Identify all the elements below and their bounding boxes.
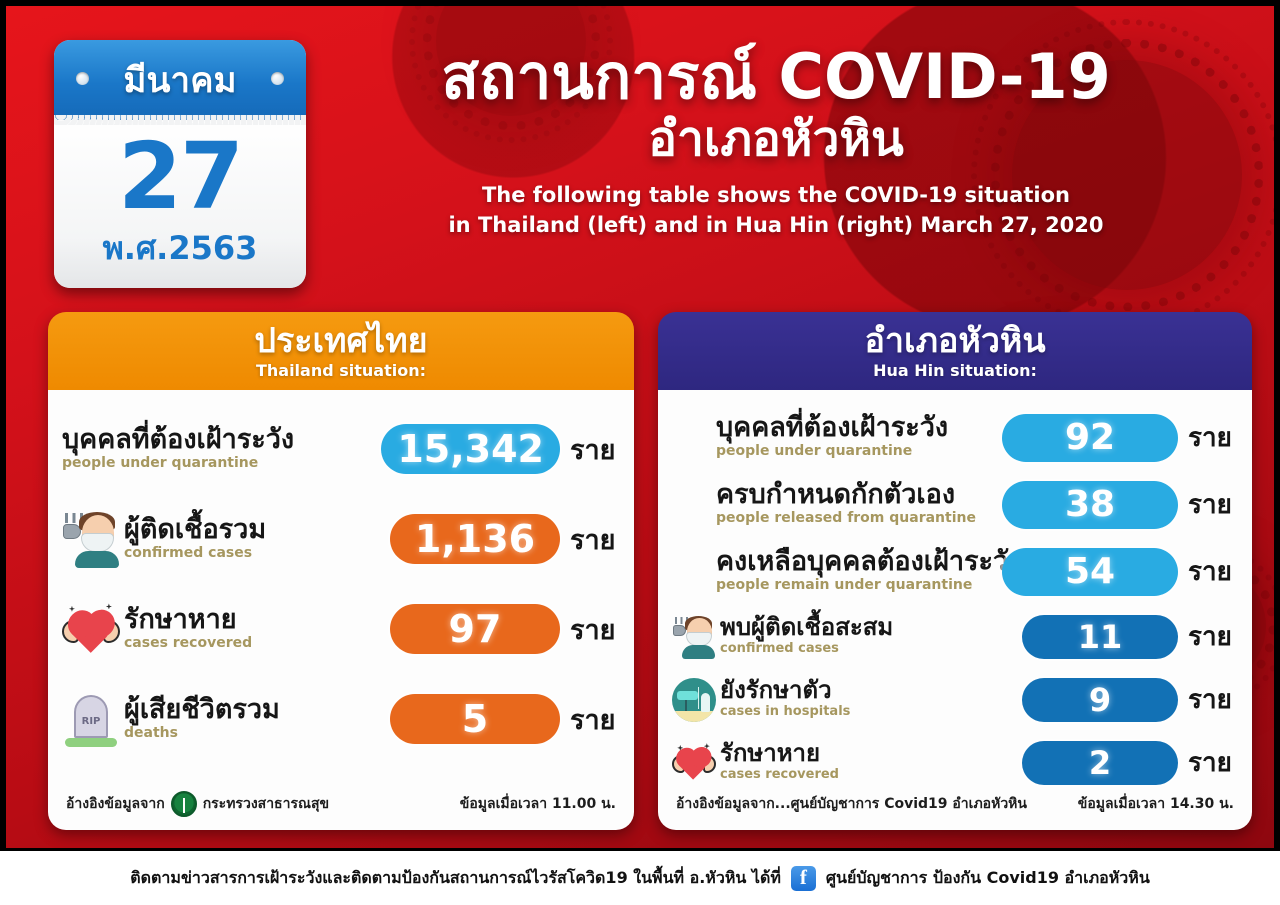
title-block: สถานการณ์ COVID-19 อำเภอหัวหิน The follo… — [326, 44, 1226, 241]
row-value-pill: 97 — [390, 604, 560, 654]
row-icon-placeholder — [672, 416, 716, 460]
huahin-panel-body: บุคคลที่ต้องเฝ้าระวัง people under quara… — [658, 390, 1252, 830]
row-unit: ราย — [570, 698, 620, 741]
footer-source-label: อ้างอิงข้อมูลจาก — [66, 793, 165, 815]
hospital-bed-icon — [672, 678, 716, 722]
row-unit: ราย — [1188, 679, 1238, 720]
facebook-icon[interactable] — [791, 866, 816, 891]
footer-source: อ้างอิงข้อมูลจาก...ศูนย์บัญชาการ Covid19… — [676, 793, 1027, 815]
footer-source: อ้างอิงข้อมูลจาก กระทรวงสาธารณสุข — [66, 791, 329, 817]
huahin-panel-title-en: Hua Hin situation: — [873, 361, 1037, 380]
row-label: พบผู้ติดเชื้อสะสม confirmed cases — [720, 615, 1016, 657]
row-value-pill: 15,342 — [381, 424, 560, 474]
row-label-th: บุคคลที่ต้องเฝ้าระวัง — [716, 414, 996, 442]
table-row: ผู้ติดเชื้อรวม confirmed cases 1,136 ราย — [62, 494, 620, 584]
banner-text: ติดตามข่าวสารการเฝ้าระวังและติดตามป้องกั… — [130, 866, 781, 891]
table-row: RIP ผู้เสียชีวิตรวม deaths 5 ราย — [62, 674, 620, 764]
masked-person-thermometer-icon — [62, 510, 120, 568]
ministry-of-public-health-logo-icon — [171, 791, 197, 817]
calendar-header: มีนาคม — [54, 40, 306, 120]
row-label-en: confirmed cases — [720, 641, 1016, 657]
poster-background: มีนาคม 27 พ.ศ.2563 สถานการณ์ COVID-19 อำ… — [6, 6, 1274, 848]
row-value-pill: 11 — [1022, 615, 1178, 659]
masked-person-thermometer-icon — [672, 615, 716, 659]
table-row: บุคคลที่ต้องเฝ้าระวัง people under quara… — [62, 404, 620, 494]
gravestone-icon: RIP — [62, 690, 120, 748]
row-label-th: ครบกำหนดกักตัวเอง — [716, 481, 996, 509]
row-label-en: people under quarantine — [62, 455, 375, 473]
header: มีนาคม 27 พ.ศ.2563 สถานการณ์ COVID-19 อำ… — [6, 6, 1274, 298]
title-english: The following table shows the COVID-19 s… — [326, 180, 1226, 241]
table-row: ยังรักษาตัว cases in hospitals 9 ราย — [672, 668, 1238, 731]
row-label: บุคคลที่ต้องเฝ้าระวัง people under quara… — [62, 426, 375, 473]
row-unit: ราย — [570, 428, 620, 471]
calendar-year: พ.ศ.2563 — [103, 223, 258, 274]
row-label-th: ผู้เสียชีวิตรวม — [124, 696, 384, 724]
row-label-th: บุคคลที่ต้องเฝ้าระวัง — [62, 426, 375, 454]
table-row: พบผู้ติดเชื้อสะสม confirmed cases 11 ราย — [672, 605, 1238, 668]
title-english-line2: in Thailand (left) and in Hua Hin (right… — [326, 210, 1226, 240]
row-unit: ราย — [570, 518, 620, 561]
table-row: รักษาหาย cases recovered 97 ราย — [62, 584, 620, 674]
row-value-pill: 1,136 — [390, 514, 560, 564]
thailand-panel-title-en: Thailand situation: — [256, 361, 426, 380]
calendar-hole-right-icon — [271, 72, 284, 85]
table-row: ครบกำหนดกักตัวเอง people released from q… — [672, 471, 1238, 538]
row-label: ผู้เสียชีวิตรวม deaths — [124, 696, 384, 743]
calendar-month: มีนาคม — [123, 53, 236, 108]
calendar-body: 27 พ.ศ.2563 — [54, 120, 306, 288]
bottom-banner: ติดตามข่าวสารการเฝ้าระวังและติดตามป้องกั… — [0, 848, 1280, 905]
row-label-en: people remain under quarantine — [716, 577, 996, 595]
row-label-th: พบผู้ติดเชื้อสะสม — [720, 615, 1016, 640]
row-label-th: รักษาหาย — [720, 741, 1016, 766]
thailand-panel-footer: อ้างอิงข้อมูลจาก กระทรวงสาธารณสุข ข้อมูล… — [48, 778, 634, 830]
footer-time: ข้อมูลเมื่อเวลา 11.00 น. — [460, 793, 616, 815]
row-value-pill: 5 — [390, 694, 560, 744]
huahin-panel-footer: อ้างอิงข้อมูลจาก...ศูนย์บัญชาการ Covid19… — [658, 778, 1252, 830]
calendar-icon: มีนาคม 27 พ.ศ.2563 — [54, 40, 306, 288]
row-label-en: cases in hospitals — [720, 704, 1016, 720]
row-label-en: people under quarantine — [716, 443, 996, 461]
row-label-th: ผู้ติดเชื้อรวม — [124, 516, 384, 544]
row-unit: ราย — [1188, 417, 1238, 458]
row-value-pill: 92 — [1002, 414, 1178, 462]
footer-time: ข้อมูลเมื่อเวลา 14.30 น. — [1078, 793, 1234, 815]
row-unit: ราย — [1188, 742, 1238, 783]
title-english-line1: The following table shows the COVID-19 s… — [326, 180, 1226, 210]
row-label: ยังรักษาตัว cases in hospitals — [720, 678, 1016, 720]
calendar-day: 27 — [118, 134, 242, 220]
thailand-panel: ประเทศไทย Thailand situation: บุคคลที่ต้… — [48, 312, 634, 830]
huahin-panel-header: อำเภอหัวหิน Hua Hin situation: — [658, 312, 1252, 390]
flexed-arms-heart-icon — [62, 600, 120, 658]
row-label: บุคคลที่ต้องเฝ้าระวัง people under quara… — [716, 414, 996, 461]
infographic-page: มีนาคม 27 พ.ศ.2563 สถานการณ์ COVID-19 อำ… — [0, 0, 1280, 905]
row-value-pill: 54 — [1002, 548, 1178, 596]
row-unit: ราย — [1188, 616, 1238, 657]
page-title: สถานการณ์ COVID-19 — [326, 44, 1226, 111]
row-label: ผู้ติดเชื้อรวม confirmed cases — [124, 516, 384, 563]
row-unit: ราย — [1188, 484, 1238, 525]
calendar-hole-left-icon — [76, 72, 89, 85]
huahin-panel-title-th: อำเภอหัวหิน — [864, 324, 1045, 358]
row-label-en: cases recovered — [124, 635, 384, 653]
thailand-panel-body: บุคคลที่ต้องเฝ้าระวัง people under quara… — [48, 390, 634, 830]
row-label: รักษาหาย cases recovered — [124, 606, 384, 653]
row-label-en: deaths — [124, 725, 384, 743]
page-subtitle: อำเภอหัวหิน — [326, 113, 1226, 166]
row-label-th: คงเหลือบุคคลต้องเฝ้าระวัง — [716, 548, 996, 576]
row-label-th: รักษาหาย — [124, 606, 384, 634]
table-row: บุคคลที่ต้องเฝ้าระวัง people under quara… — [672, 404, 1238, 471]
thailand-panel-title-th: ประเทศไทย — [254, 324, 427, 358]
row-value-pill: 9 — [1022, 678, 1178, 722]
table-row: คงเหลือบุคคลต้องเฝ้าระวัง people remain … — [672, 538, 1238, 605]
thailand-panel-header: ประเทศไทย Thailand situation: — [48, 312, 634, 390]
row-unit: ราย — [1188, 551, 1238, 592]
huahin-panel: อำเภอหัวหิน Hua Hin situation: บุคคลที่ต… — [658, 312, 1252, 830]
row-label: ครบกำหนดกักตัวเอง people released from q… — [716, 481, 996, 528]
row-label: คงเหลือบุคคลต้องเฝ้าระวัง people remain … — [716, 548, 996, 595]
row-label-th: ยังรักษาตัว — [720, 678, 1016, 703]
footer-org-label: กระทรวงสาธารณสุข — [203, 793, 329, 815]
row-label-en: people released from quarantine — [716, 510, 996, 528]
row-unit: ราย — [570, 608, 620, 651]
row-icon-placeholder — [672, 550, 716, 594]
row-icon-placeholder — [672, 483, 716, 527]
facebook-page-name[interactable]: ศูนย์บัญชาการ ป้องกัน Covid19 อำเภอหัวหิ… — [826, 866, 1150, 891]
row-label-en: confirmed cases — [124, 545, 384, 563]
row-value-pill: 38 — [1002, 481, 1178, 529]
